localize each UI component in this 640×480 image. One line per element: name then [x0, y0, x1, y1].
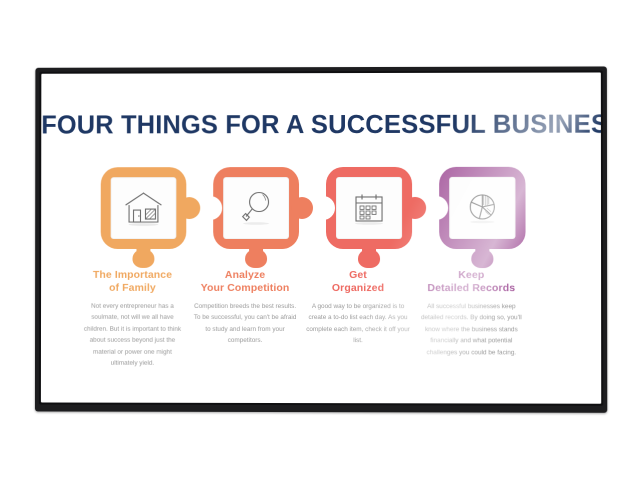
- puzzle-piece-1-icon-plate: [111, 177, 177, 239]
- column-3-heading-line1: Get: [349, 269, 367, 281]
- puzzle-piece-1-knob: [178, 197, 200, 219]
- puzzle-piece-3[interactable]: [320, 167, 418, 253]
- puzzle-piece-2-icon-plate: [223, 177, 289, 239]
- puzzle-piece-3-icon-plate: [336, 177, 402, 239]
- puzzle-piece-row: [95, 167, 547, 267]
- column-1: The Importance of Family Not every entre…: [75, 269, 191, 369]
- pie-chart-icon: [460, 188, 504, 228]
- puzzle-piece-2-tab-bulb: [245, 249, 267, 268]
- column-3-heading-line2: Organized: [300, 282, 416, 295]
- column-2: Analyze Your Competition Competition bre…: [187, 269, 303, 347]
- puzzle-piece-2-knob: [291, 197, 313, 219]
- puzzle-piece-1-tab-bulb: [132, 249, 154, 268]
- column-1-heading-line1: The Importance: [93, 269, 172, 281]
- column-4-body: All successful businesses keep detailed …: [413, 301, 530, 358]
- puzzle-piece-1[interactable]: [95, 167, 193, 253]
- column-1-heading: The Importance of Family: [75, 269, 190, 295]
- text-columns: The Importance of Family Not every entre…: [75, 269, 567, 390]
- puzzle-piece-4-icon-plate: [449, 177, 515, 239]
- calendar-icon: [347, 188, 391, 228]
- column-3-heading: Get Organized: [300, 269, 416, 295]
- puzzle-piece-3-tab-bulb: [358, 249, 380, 268]
- column-3-body: A good way to be organized is to create …: [300, 301, 416, 347]
- column-3: Get Organized A good way to be organized…: [300, 269, 416, 347]
- column-1-body: Not every entrepreneur has a soulmate, n…: [75, 301, 190, 369]
- column-4-heading: Keep Detailed Records: [413, 269, 529, 295]
- puzzle-piece-4[interactable]: [433, 167, 531, 253]
- puzzle-piece-4-tab-bulb: [471, 249, 493, 268]
- column-4: Keep Detailed Records All successful bus…: [413, 269, 530, 358]
- column-4-heading-line2: Detailed Records: [413, 282, 529, 295]
- column-2-heading-line1: Analyze: [225, 269, 265, 281]
- house-icon: [122, 188, 166, 228]
- column-1-heading-line2: of Family: [75, 282, 190, 295]
- monitor-device: FOUR THINGS FOR A SUCCESSFUL BUSINESS: [35, 66, 607, 412]
- presentation-slide: FOUR THINGS FOR A SUCCESSFUL BUSINESS: [41, 72, 601, 403]
- magnifying-glass-icon: [234, 188, 278, 228]
- column-2-body: Competition breeds the best results. To …: [187, 301, 303, 347]
- monitor-screen: FOUR THINGS FOR A SUCCESSFUL BUSINESS: [41, 72, 601, 403]
- column-4-heading-line1: Keep: [458, 269, 484, 281]
- puzzle-piece-3-knob: [404, 197, 426, 219]
- column-2-heading: Analyze Your Competition: [187, 269, 303, 295]
- monitor-bezel: FOUR THINGS FOR A SUCCESSFUL BUSINESS: [39, 70, 603, 405]
- column-2-heading-line2: Your Competition: [187, 282, 303, 295]
- puzzle-piece-2[interactable]: [207, 167, 305, 253]
- page-title: FOUR THINGS FOR A SUCCESSFUL BUSINESS: [41, 111, 601, 141]
